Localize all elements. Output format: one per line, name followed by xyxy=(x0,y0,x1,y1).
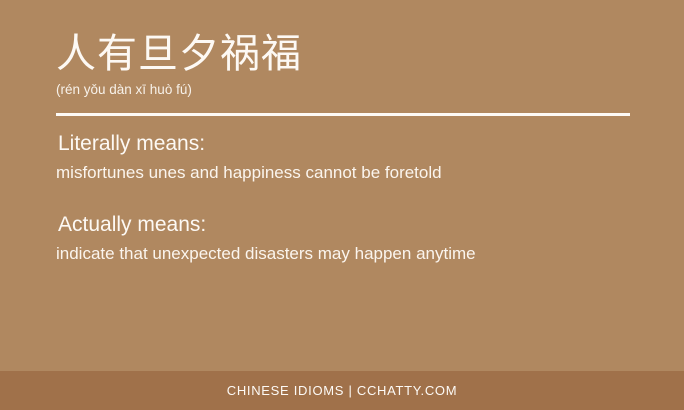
footer-bar: CHINESE IDIOMS | CCHATTY.COM xyxy=(0,371,684,410)
literal-meaning-heading: Literally means: xyxy=(56,130,654,158)
header-divider xyxy=(56,113,630,116)
literal-meaning-section: Literally means: misfortunes unes and ha… xyxy=(56,130,654,185)
title-block: 人有旦夕祸福 (rén yǒu dàn xī huò fú) xyxy=(56,30,302,99)
literal-meaning-text: misfortunes unes and happiness cannot be… xyxy=(56,160,654,185)
actual-meaning-section: Actually means: indicate that unexpected… xyxy=(56,211,654,266)
idiom-hanzi: 人有旦夕祸福 xyxy=(56,30,302,78)
meaning-sections: Literally means: misfortunes unes and ha… xyxy=(56,130,654,266)
footer-branding-text: CHINESE IDIOMS | CCHATTY.COM xyxy=(227,383,458,398)
idiom-card: 人有旦夕祸福 (rén yǒu dàn xī huò fú) Literally… xyxy=(0,0,684,410)
actual-meaning-heading: Actually means: xyxy=(56,211,654,239)
idiom-pinyin: (rén yǒu dàn xī huò fú) xyxy=(56,81,302,99)
actual-meaning-text: indicate that unexpected disasters may h… xyxy=(56,241,654,266)
